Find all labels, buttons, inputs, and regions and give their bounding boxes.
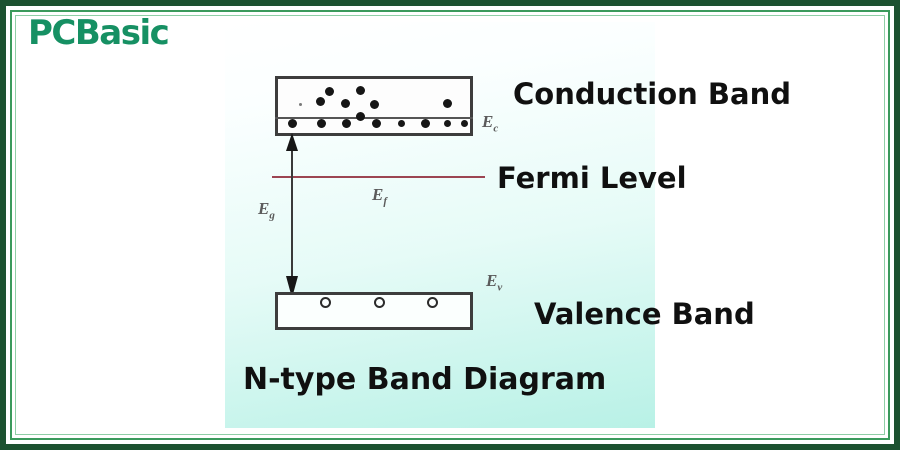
ef-symbol: E [372,185,383,204]
electron-dot [421,119,430,128]
electron-dot [356,86,365,95]
electron-dot [341,99,350,108]
electron-dot [356,112,365,121]
ev-subscript: v [497,281,502,293]
valence-band-box [275,292,473,330]
electron-dot [342,119,351,128]
electron-dot [316,97,325,106]
electron-dot [317,119,326,128]
pcbasic-logo: PCBasic [28,16,168,50]
fermi-level-caption: Fermi Level [497,164,687,193]
electron-dot [461,120,468,127]
conduction-band-edge-label: Ec [482,113,498,134]
screenshot-root: PCBasic Ec Ef Eg Ev Conduction Band Ferm… [0,0,900,450]
band-gap-arrow-shaft [291,134,293,294]
ec-subscript: c [493,122,498,134]
eg-symbol: E [258,199,269,218]
valence-band-caption: Valence Band [534,300,755,329]
hole-circle [427,297,438,308]
diagram-title: N-type Band Diagram [243,365,606,395]
electron-dot [299,103,302,106]
electron-dot [325,87,334,96]
electron-dot [372,119,381,128]
band-gap-arrow-head-up-icon [286,133,298,151]
electron-dot [444,120,451,127]
electron-dot [288,119,297,128]
hole-circle [320,297,331,308]
hole-circle [374,297,385,308]
band-gap-label: Eg [258,200,275,221]
fermi-level-line [272,176,485,178]
logo-text: PCBasic [28,13,168,53]
ec-symbol: E [482,112,493,131]
eg-subscript: g [269,209,275,221]
electron-dot [370,100,379,109]
conduction-band-caption: Conduction Band [513,80,791,109]
valence-band-edge-label: Ev [486,272,502,293]
fermi-level-label: Ef [372,186,387,207]
ef-subscript: f [383,195,387,207]
electron-dot [443,99,452,108]
electron-dot [398,120,405,127]
ev-symbol: E [486,271,497,290]
